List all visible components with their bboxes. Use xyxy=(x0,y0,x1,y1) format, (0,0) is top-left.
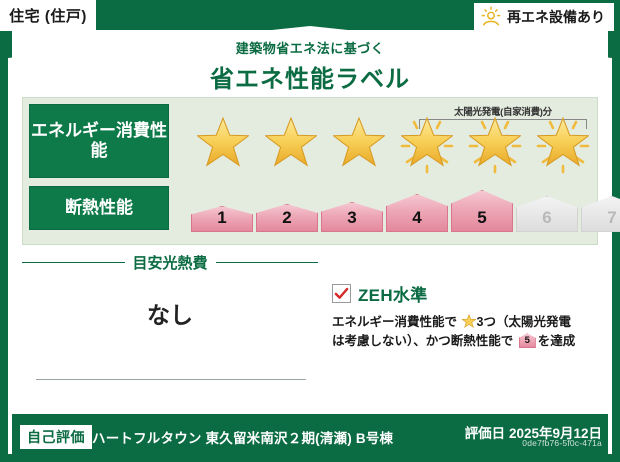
utility-cost-value: なし xyxy=(22,296,318,330)
sun-icon xyxy=(480,6,502,28)
insulation-step: 3 xyxy=(321,202,383,232)
insulation-step-number: 6 xyxy=(542,208,551,232)
insulation-step: 5 xyxy=(451,190,513,232)
building-type-label: 住宅 (住戸) xyxy=(9,5,87,26)
zeh-desc-part1: エネルギー消費性能で xyxy=(332,315,457,329)
performance-panel: エネルギー消費性能 太陽光発電(自家消費)分 xyxy=(22,97,598,245)
star-icon xyxy=(469,116,521,168)
insulation-step-number: 5 xyxy=(477,208,486,232)
insulation-step-number: 1 xyxy=(217,208,226,232)
insulation-step-number: 4 xyxy=(412,208,421,232)
star-icon xyxy=(197,116,249,168)
check-icon xyxy=(334,286,349,301)
insulation-step-number: 7 xyxy=(607,208,616,232)
zeh-checkbox[interactable] xyxy=(332,284,351,303)
zeh-title: ZEH水準 xyxy=(358,281,428,306)
energy-performance-row: エネルギー消費性能 太陽光発電(自家消費)分 xyxy=(23,104,597,178)
renewable-energy-badge: 再エネ設備あり xyxy=(474,3,614,31)
utility-cost-heading: 目安光熱費 xyxy=(22,252,318,273)
star-item-solar xyxy=(463,106,527,176)
star-icon xyxy=(401,116,453,168)
cost-divider xyxy=(36,379,306,380)
utility-cost-label: 目安光熱費 xyxy=(133,252,208,273)
insulation-row-label: 断熱性能 xyxy=(29,186,169,230)
zeh-description: エネルギー消費性能で 3つ（太陽光発電 は考慮しない）、かつ断熱性能で 5 を達… xyxy=(332,313,598,352)
zeh-heading: ZEH水準 xyxy=(332,281,598,306)
star-item-solar xyxy=(395,106,459,176)
star-icon xyxy=(537,116,589,168)
insulation-step: 1 xyxy=(191,206,253,232)
label-id: 0de7fb76-5f0c-471a xyxy=(522,438,602,448)
property-name: ハートフルタウン 東久留米南沢２期(清瀬) B号棟 xyxy=(92,427,393,447)
energy-star-rating xyxy=(191,106,595,176)
star-icon xyxy=(265,116,317,168)
insulation-badge-inline: 5 xyxy=(519,333,536,348)
energy-performance-label: 住宅 (住戸) 再エネ設備あり 建築物省エネ法に基づく 省エネ性能ラベル xyxy=(0,0,620,462)
insulation-step: 7 xyxy=(581,196,620,232)
insulation-step-number: 2 xyxy=(282,208,291,232)
star-item xyxy=(191,106,255,176)
heading-rule-left xyxy=(22,262,125,263)
zeh-desc-part2: は考慮しない）、かつ断熱性能で xyxy=(332,334,513,348)
heading-rule-right xyxy=(216,262,319,263)
renewable-badge-label: 再エネ設備あり xyxy=(507,7,605,27)
insulation-performance-row: 断熱性能 1 2 3 4 xyxy=(23,186,597,238)
star-item xyxy=(327,106,391,176)
star-item xyxy=(259,106,323,176)
insulation-badge-number: 5 xyxy=(519,333,536,348)
zeh-desc-part3: を達成 xyxy=(538,334,576,348)
insulation-rating-scale: 1 2 3 4 5 xyxy=(191,186,620,232)
evaluation-type-badge: 自己評価 xyxy=(20,425,92,449)
star-item-solar xyxy=(531,106,595,176)
building-type-tag: 住宅 (住戸) xyxy=(0,0,96,31)
zeh-section: ZEH水準 エネルギー消費性能で 3つ（太陽光発電 は考慮しない）、かつ断熱性能… xyxy=(332,281,598,352)
insulation-step: 2 xyxy=(256,204,318,232)
energy-row-label: エネルギー消費性能 xyxy=(29,104,169,178)
star-icon xyxy=(333,116,385,168)
insulation-step: 4 xyxy=(386,194,448,232)
insulation-step-number: 3 xyxy=(347,208,356,232)
star-icon-inline xyxy=(462,314,476,328)
zeh-desc-stars: 3つ（太陽光発電 xyxy=(477,315,571,329)
insulation-step: 6 xyxy=(516,196,578,232)
